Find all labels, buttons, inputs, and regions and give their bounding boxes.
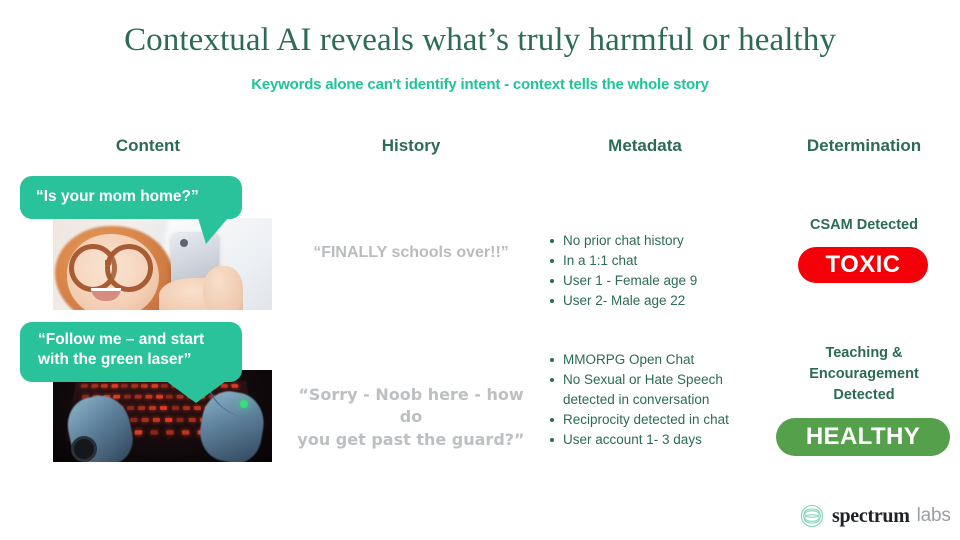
column-header-content: Content — [48, 136, 248, 156]
speech-bubble-tail — [166, 381, 226, 403]
metadata-list-row-1: No prior chat history In a 1:1 chat User… — [545, 231, 697, 311]
speech-bubble-tail — [198, 218, 228, 244]
logo-wordmark: spectrum — [832, 505, 910, 528]
keyboard-key — [176, 418, 183, 422]
keyboard-key — [131, 384, 138, 388]
spectrum-labs-logo: spectrum labs — [799, 501, 951, 531]
speech-bubble-row-2: “Follow me – and start with the green la… — [20, 322, 242, 382]
history-text-line-2: you get past the guard?” — [286, 429, 536, 451]
column-header-metadata: Metadata — [545, 136, 745, 156]
photo-eyeglass-bridge — [105, 260, 111, 265]
metadata-item: Reciprocity detected in chat — [563, 410, 768, 430]
content-photo-row-2 — [53, 370, 272, 462]
keyboard-key — [172, 406, 179, 410]
metadata-list-row-2: MMORPG Open Chat No Sexual or Hate Speec… — [545, 350, 768, 450]
keyboard-key — [91, 384, 98, 388]
keyboard-key — [149, 406, 156, 410]
photo-eyeglass-right — [105, 244, 153, 292]
history-text-row-1: “FINALLY schools over!!” — [291, 242, 531, 264]
metadata-item: No prior chat history — [563, 231, 697, 251]
determination-label-line-3: Detected — [774, 385, 954, 406]
verdict-badge-healthy: HEALTHY — [776, 418, 950, 456]
metadata-item: No Sexual or Hate Speech detected in con… — [563, 370, 768, 410]
keyboard-key — [121, 384, 128, 388]
spectrum-swirl-icon — [799, 503, 825, 529]
keyboard-key — [111, 384, 118, 388]
keyboard-key — [182, 430, 190, 434]
keyboard-key — [166, 430, 173, 434]
keyboard-key — [113, 395, 120, 399]
speech-bubble-text-line-1: “Follow me – and start — [38, 330, 230, 350]
photo-green-light — [240, 400, 248, 408]
metadata-item: User account 1- 3 days — [563, 430, 768, 450]
keyboard-key — [165, 418, 172, 422]
keyboard-key — [141, 418, 148, 422]
keyboard-key — [81, 384, 88, 388]
keyboard-key — [183, 406, 190, 410]
keyboard-key — [141, 384, 148, 388]
column-header-determination: Determination — [764, 136, 960, 156]
keyboard-key — [160, 406, 167, 410]
keyboard-key — [124, 395, 131, 399]
column-header-history: History — [311, 136, 511, 156]
verdict-badge-toxic: TOXIC — [798, 247, 928, 283]
speech-bubble-text: “Is your mom home?” — [36, 188, 199, 205]
keyboard-key — [151, 384, 158, 388]
history-text-row-2: “Sorry - Noob here - how do you get past… — [286, 384, 536, 451]
metadata-item: User 2- Male age 22 — [563, 291, 697, 311]
page-subtitle: Keywords alone can't identify intent - c… — [0, 76, 960, 93]
keyboard-key — [135, 430, 143, 434]
keyboard-key — [138, 406, 145, 410]
photo-wristwatch — [71, 436, 97, 462]
history-text-line-1: “Sorry - Noob here - how do — [286, 384, 536, 429]
content-photo-row-1 — [53, 218, 272, 310]
keyboard-key — [153, 418, 160, 422]
keyboard-key — [194, 406, 201, 410]
keyboard-key — [156, 395, 163, 399]
determination-label-line-2: Encouragement — [774, 364, 954, 385]
metadata-item: MMORPG Open Chat — [563, 350, 768, 370]
speech-bubble-text-line-2: with the green laser” — [38, 350, 230, 370]
speech-bubble-row-1: “Is your mom home?” — [20, 176, 242, 219]
page-title: Contextual AI reveals what’s truly harmf… — [0, 22, 960, 59]
logo-subword: labs — [917, 505, 951, 527]
keyboard-key — [145, 395, 152, 399]
metadata-item: User 1 - Female age 9 — [563, 271, 697, 291]
keyboard-key — [127, 406, 134, 410]
determination-label-row-2: Teaching & Encouragement Detected — [774, 343, 954, 406]
photo-hand-secondary — [203, 266, 243, 310]
keyboard-key — [135, 395, 142, 399]
photo-phone-camera — [180, 239, 188, 247]
determination-label-row-1: CSAM Detected — [764, 215, 960, 236]
keyboard-key — [130, 418, 137, 422]
keyboard-key — [188, 418, 195, 422]
metadata-item: In a 1:1 chat — [563, 251, 697, 271]
determination-label-line-1: Teaching & — [774, 343, 954, 364]
keyboard-key — [101, 384, 108, 388]
keyboard-key — [150, 430, 157, 434]
